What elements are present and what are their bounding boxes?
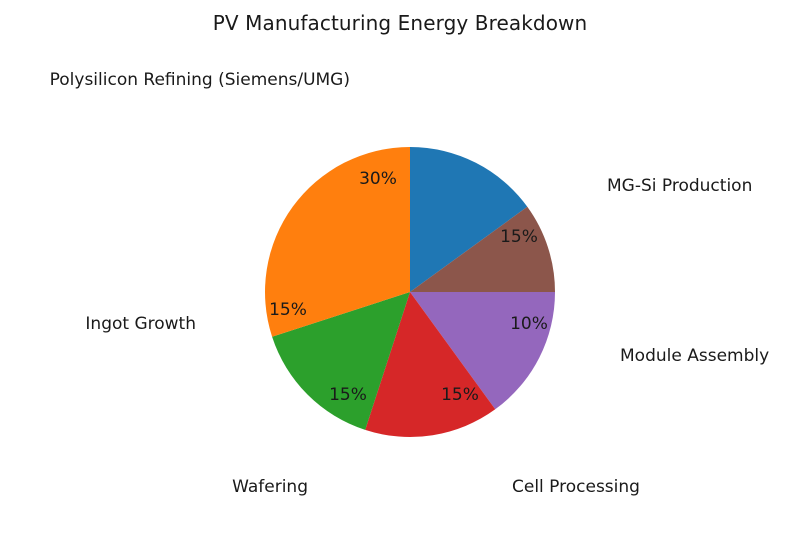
pie-slice-category-label: Polysilicon Refining (Siemens/UMG): [50, 70, 350, 90]
pie-wedges-group: [265, 147, 555, 437]
pie-slice-percent-label: 10%: [510, 314, 548, 334]
pie-slice-category-label: MG-Si Production: [607, 176, 752, 196]
pie-slice-category-label: Ingot Growth: [85, 314, 196, 334]
pie-slice-category-label: Module Assembly: [620, 346, 769, 366]
pie-chart-svg: 15%10%15%15%15%30% MG-Si ProductionModul…: [0, 0, 800, 555]
pie-slice-category-label: Wafering: [232, 477, 308, 497]
pie-slice-percent-label: 15%: [269, 300, 307, 320]
pie-slice-percent-label: 30%: [359, 169, 397, 189]
pie-slice-percent-label: 15%: [441, 385, 479, 405]
pie-slice-percent-label: 15%: [500, 227, 538, 247]
pie-slice-percent-label: 15%: [329, 385, 367, 405]
pie-chart-figure: PV Manufacturing Energy Breakdown 15%10%…: [0, 0, 800, 555]
pie-slice-category-label: Cell Processing: [512, 477, 640, 497]
